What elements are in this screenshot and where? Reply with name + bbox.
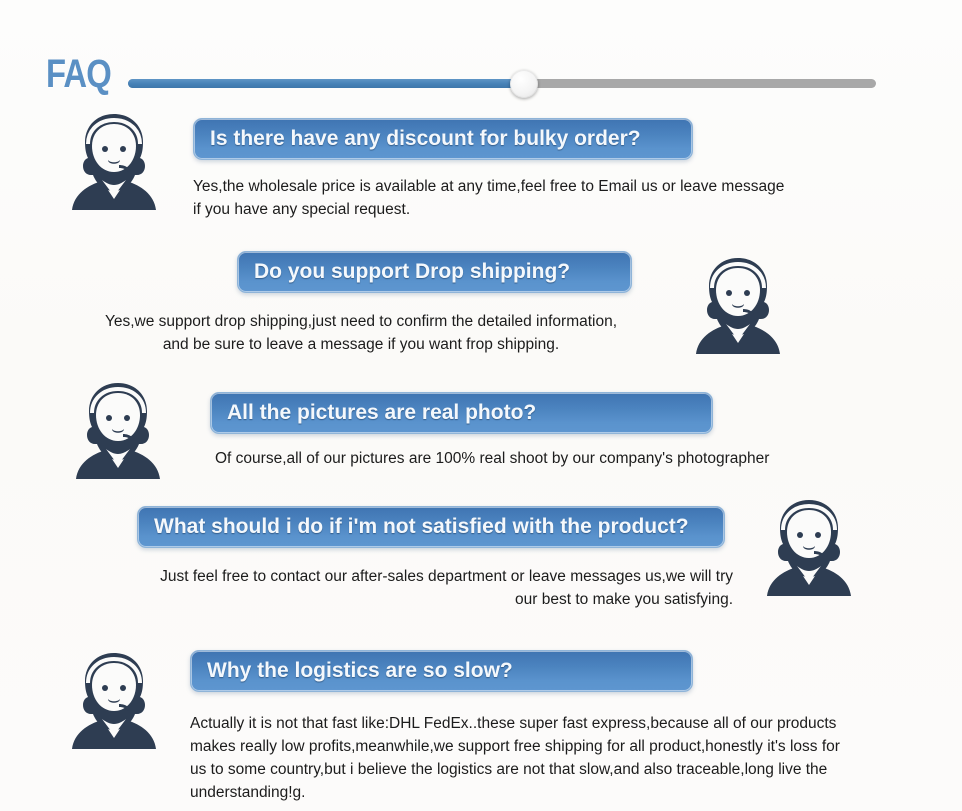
faq-answer-text: Of course,all of our pictures are 100% r… — [215, 447, 915, 470]
faq-question-text: What should i do if i'm not satisfied wi… — [154, 515, 689, 539]
faq-question-text: Why the logistics are so slow? — [207, 659, 513, 683]
faq-answer-text: Yes,the wholesale price is available at … — [193, 175, 893, 221]
slider-thumb-icon[interactable] — [510, 70, 538, 98]
customer-service-agent-icon — [58, 106, 170, 218]
header-slider[interactable] — [128, 79, 876, 89]
page-title: FAQ — [46, 54, 111, 94]
customer-service-agent-icon — [682, 250, 794, 362]
faq-answer-text: Yes,we support drop shipping,just need t… — [76, 310, 646, 356]
faq-question-text: All the pictures are real photo? — [227, 401, 536, 425]
slider-fill — [128, 79, 532, 88]
customer-service-agent-icon — [58, 645, 170, 757]
faq-page: FAQ — [0, 0, 962, 811]
faq-question-text: Is there have any discount for bulky ord… — [210, 127, 641, 151]
faq-question-banner[interactable]: Do you support Drop shipping? — [237, 251, 632, 293]
faq-question-text: Do you support Drop shipping? — [254, 260, 570, 284]
faq-question-banner[interactable]: All the pictures are real photo? — [210, 392, 713, 434]
faq-answer-text: Actually it is not that fast like:DHL Fe… — [190, 712, 910, 804]
faq-header: FAQ — [0, 24, 962, 86]
customer-service-agent-icon — [62, 375, 174, 487]
faq-question-banner[interactable]: Is there have any discount for bulky ord… — [193, 118, 693, 160]
customer-service-agent-icon — [753, 492, 865, 604]
faq-question-banner[interactable]: Why the logistics are so slow? — [190, 650, 693, 692]
faq-question-banner[interactable]: What should i do if i'm not satisfied wi… — [137, 506, 725, 548]
faq-answer-text: Just feel free to contact our after-sale… — [100, 565, 733, 611]
